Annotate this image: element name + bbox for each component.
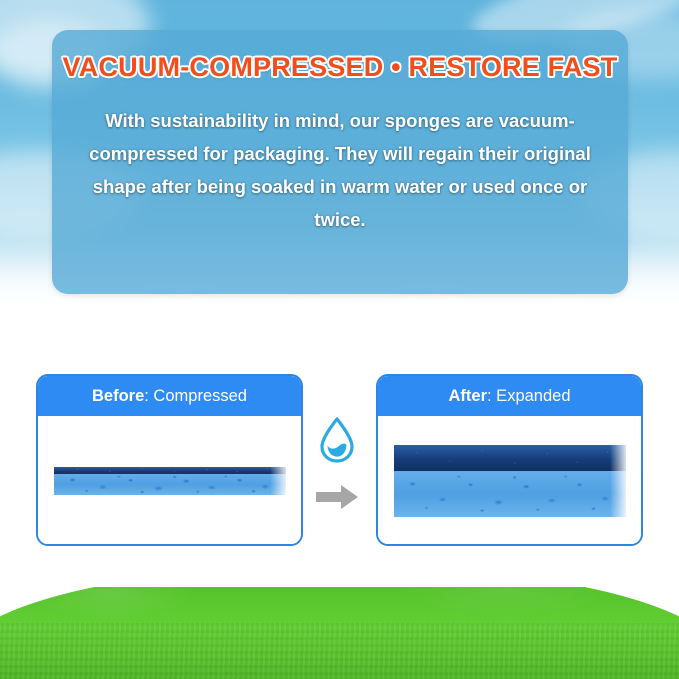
sponge-edge-fade [270,467,286,495]
hero-title: VACUUM-COMPRESSED • RESTORE FAST [63,52,618,83]
grass-hill [0,587,679,679]
after-label-strong: After [449,387,488,405]
after-card: After: Expanded [376,374,643,546]
after-card-header: After: Expanded [378,376,641,416]
after-label: After: Expanded [449,387,571,406]
before-label-strong: Before [92,387,144,405]
arrow-right-icon [314,483,360,516]
product-infographic: VACUUM-COMPRESSED • RESTORE FAST With su… [0,0,679,679]
before-card-header: Before: Compressed [38,376,301,416]
after-card-body [378,416,641,546]
sponge-porous-layer [394,471,626,517]
compressed-sponge-image [54,467,286,495]
sponge-edge-fade [610,445,626,517]
sponge-scrub-layer [394,445,626,471]
before-card: Before: Compressed [36,374,303,546]
grass-texture [0,623,679,679]
expanded-sponge-image [394,445,626,517]
sponge-porous-layer [54,474,286,495]
hero-description: With sustainability in mind, our sponges… [80,105,600,237]
hero-panel: VACUUM-COMPRESSED • RESTORE FAST With su… [52,30,628,294]
before-label: Before: Compressed [92,387,247,406]
water-drop-icon [317,416,357,469]
grass-field-background [0,587,679,679]
transition-icons [306,372,368,522]
after-label-light: : Expanded [487,387,570,405]
before-label-light: : Compressed [144,387,247,405]
before-card-body [38,416,301,546]
sponge-scrub-layer [54,467,286,474]
